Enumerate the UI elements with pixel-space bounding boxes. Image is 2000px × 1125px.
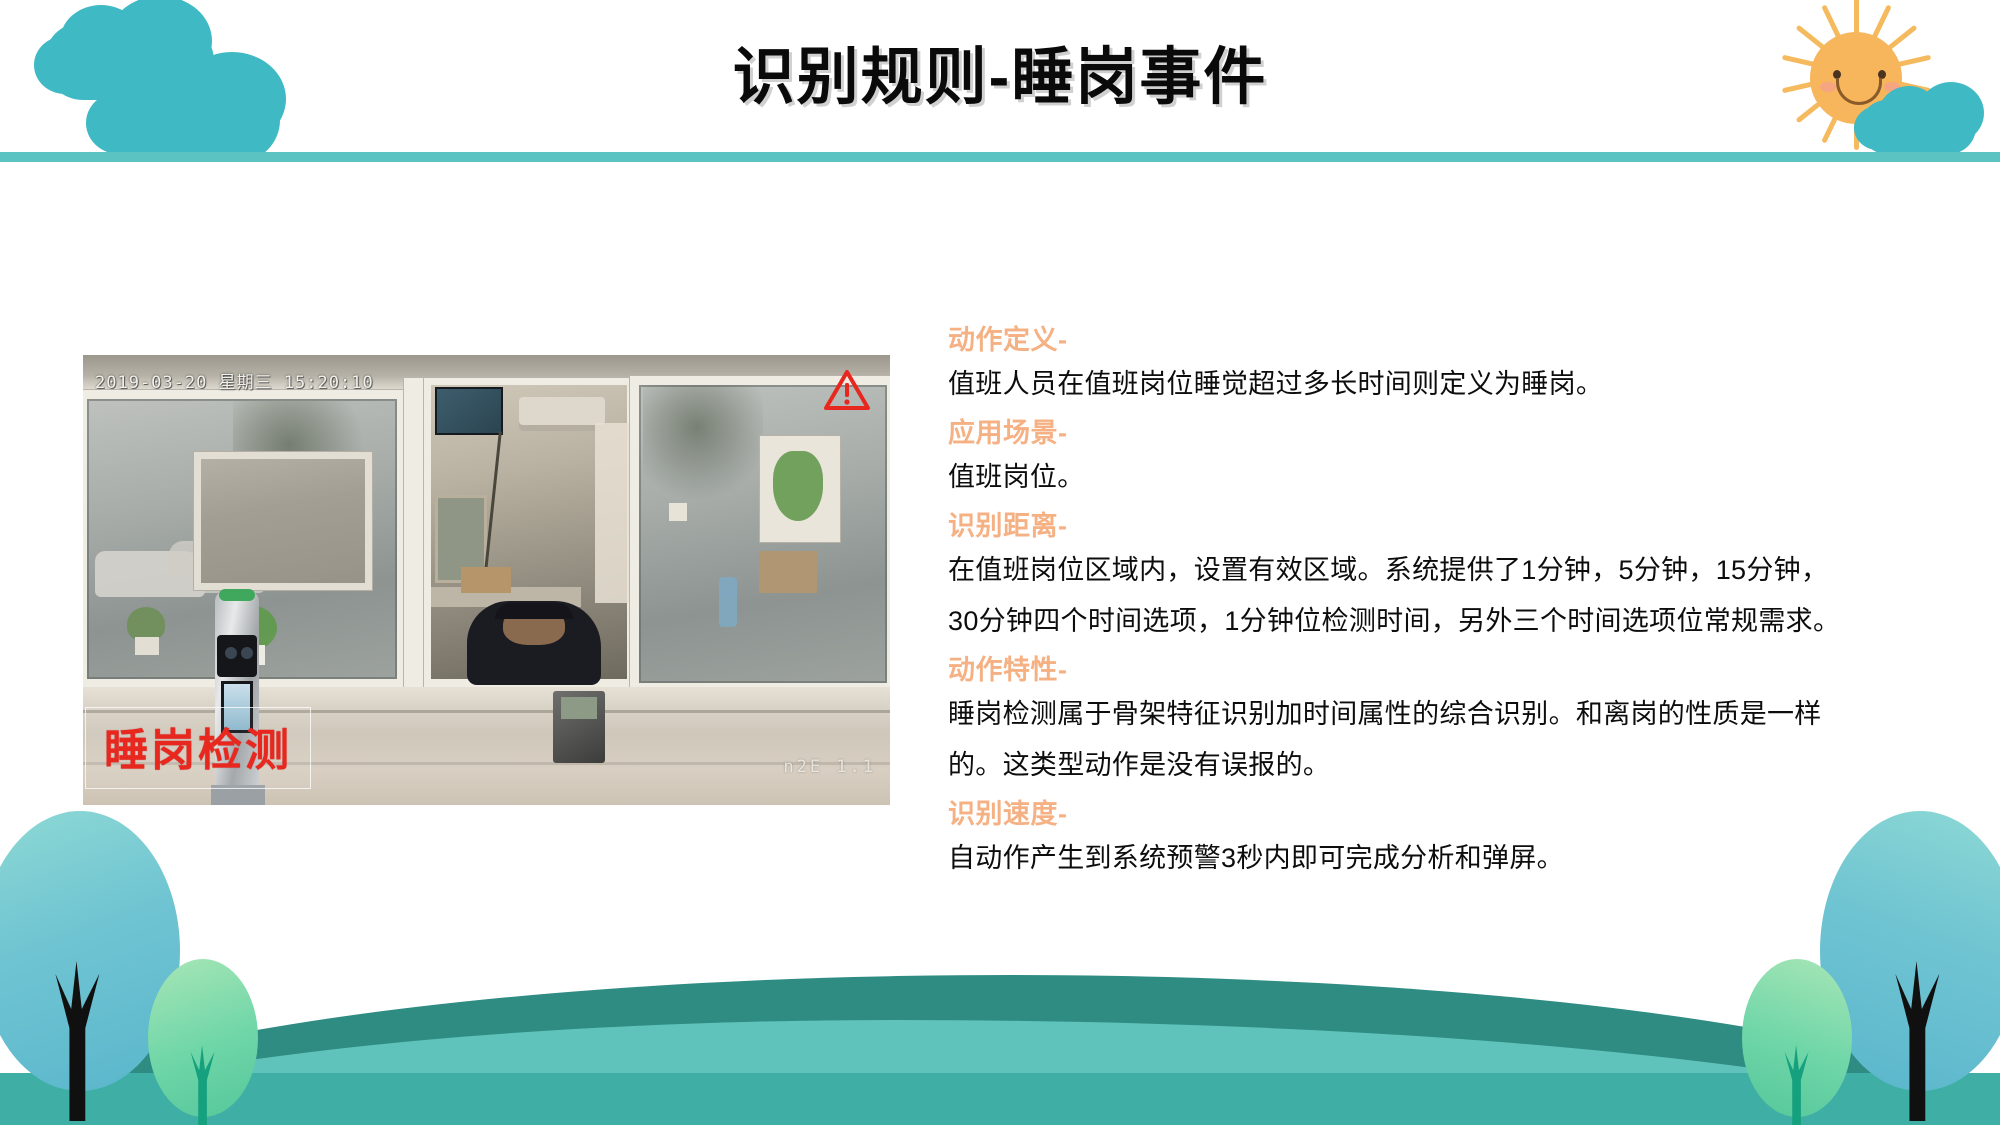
section-body-line: 30分钟四个时间选项，1分钟位检测时间，另外三个时间选项位常规需求。: [948, 600, 1948, 644]
kiosk-camera-lens: [225, 647, 237, 659]
warning-triangle-icon: [824, 369, 870, 411]
cardboard-box: [461, 567, 511, 593]
ground-band: [0, 1073, 2000, 1125]
section-heading: 动作定义-: [948, 320, 1948, 361]
water-bottle: [719, 577, 737, 627]
air-conditioner: [519, 397, 605, 431]
section-heading: 识别距离-: [948, 506, 1948, 547]
tree-icon: [148, 959, 258, 1117]
section-body-line: 值班人员在值班岗位睡觉超过多长时间则定义为睡岗。: [948, 363, 1948, 407]
section-heading: 应用场景-: [948, 413, 1948, 454]
wall-switch: [669, 503, 687, 521]
photo-watermark: n2E 1.1: [783, 757, 876, 777]
section-body-line: 的。这类型动作是没有误报的。: [948, 744, 1948, 788]
kiosk-top-ring: [219, 589, 255, 601]
section-heading: 动作特性-: [948, 650, 1948, 691]
stacked-boxes: [759, 551, 817, 593]
header-divider: [0, 152, 2000, 162]
inner-window-glass-left: [201, 459, 365, 583]
section-heading: 识别速度-: [948, 794, 1948, 835]
page-title: 识别规则-睡岗事件: [0, 26, 2000, 116]
plant-pot: [135, 637, 159, 655]
person-cap-brim: [495, 603, 573, 619]
surveillance-photo: 2019-03-20 星期三 15:20:10 n2E 1.1 睡岗检测: [83, 355, 890, 805]
reflection-foliage: [643, 385, 763, 505]
kiosk-camera-lens: [241, 647, 253, 659]
section-body-line: 自动作产生到系统预警3秒内即可完成分析和弹屏。: [948, 837, 1948, 881]
detection-label-box: 睡岗检测: [85, 707, 311, 789]
section-body-line: 值班岗位。: [948, 456, 1948, 500]
ceiling-monitor: [435, 387, 503, 435]
slide-canvas: 识别规则-睡岗事件: [0, 0, 2000, 1125]
rule-description-panel: 动作定义-值班人员在值班岗位睡觉超过多长时间则定义为睡岗。应用场景-值班岗位。识…: [948, 320, 1948, 888]
potted-plant: [127, 607, 165, 641]
tree-icon: [1742, 959, 1852, 1117]
indoor-plant: [773, 451, 823, 521]
section-body-line: 睡岗检测属于骨架特征识别加时间属性的综合识别。和离岗的性质是一样: [948, 693, 1948, 737]
section-body-line: 在值班岗位区域内，设置有效区域。系统提供了1分钟，5分钟，15分钟，: [948, 549, 1948, 593]
detection-label-text: 睡岗检测: [104, 726, 292, 775]
interior-door: [595, 423, 629, 603]
photo-timestamp: 2019-03-20 星期三 15:20:10: [95, 368, 374, 393]
card-reader-screen: [561, 697, 597, 719]
